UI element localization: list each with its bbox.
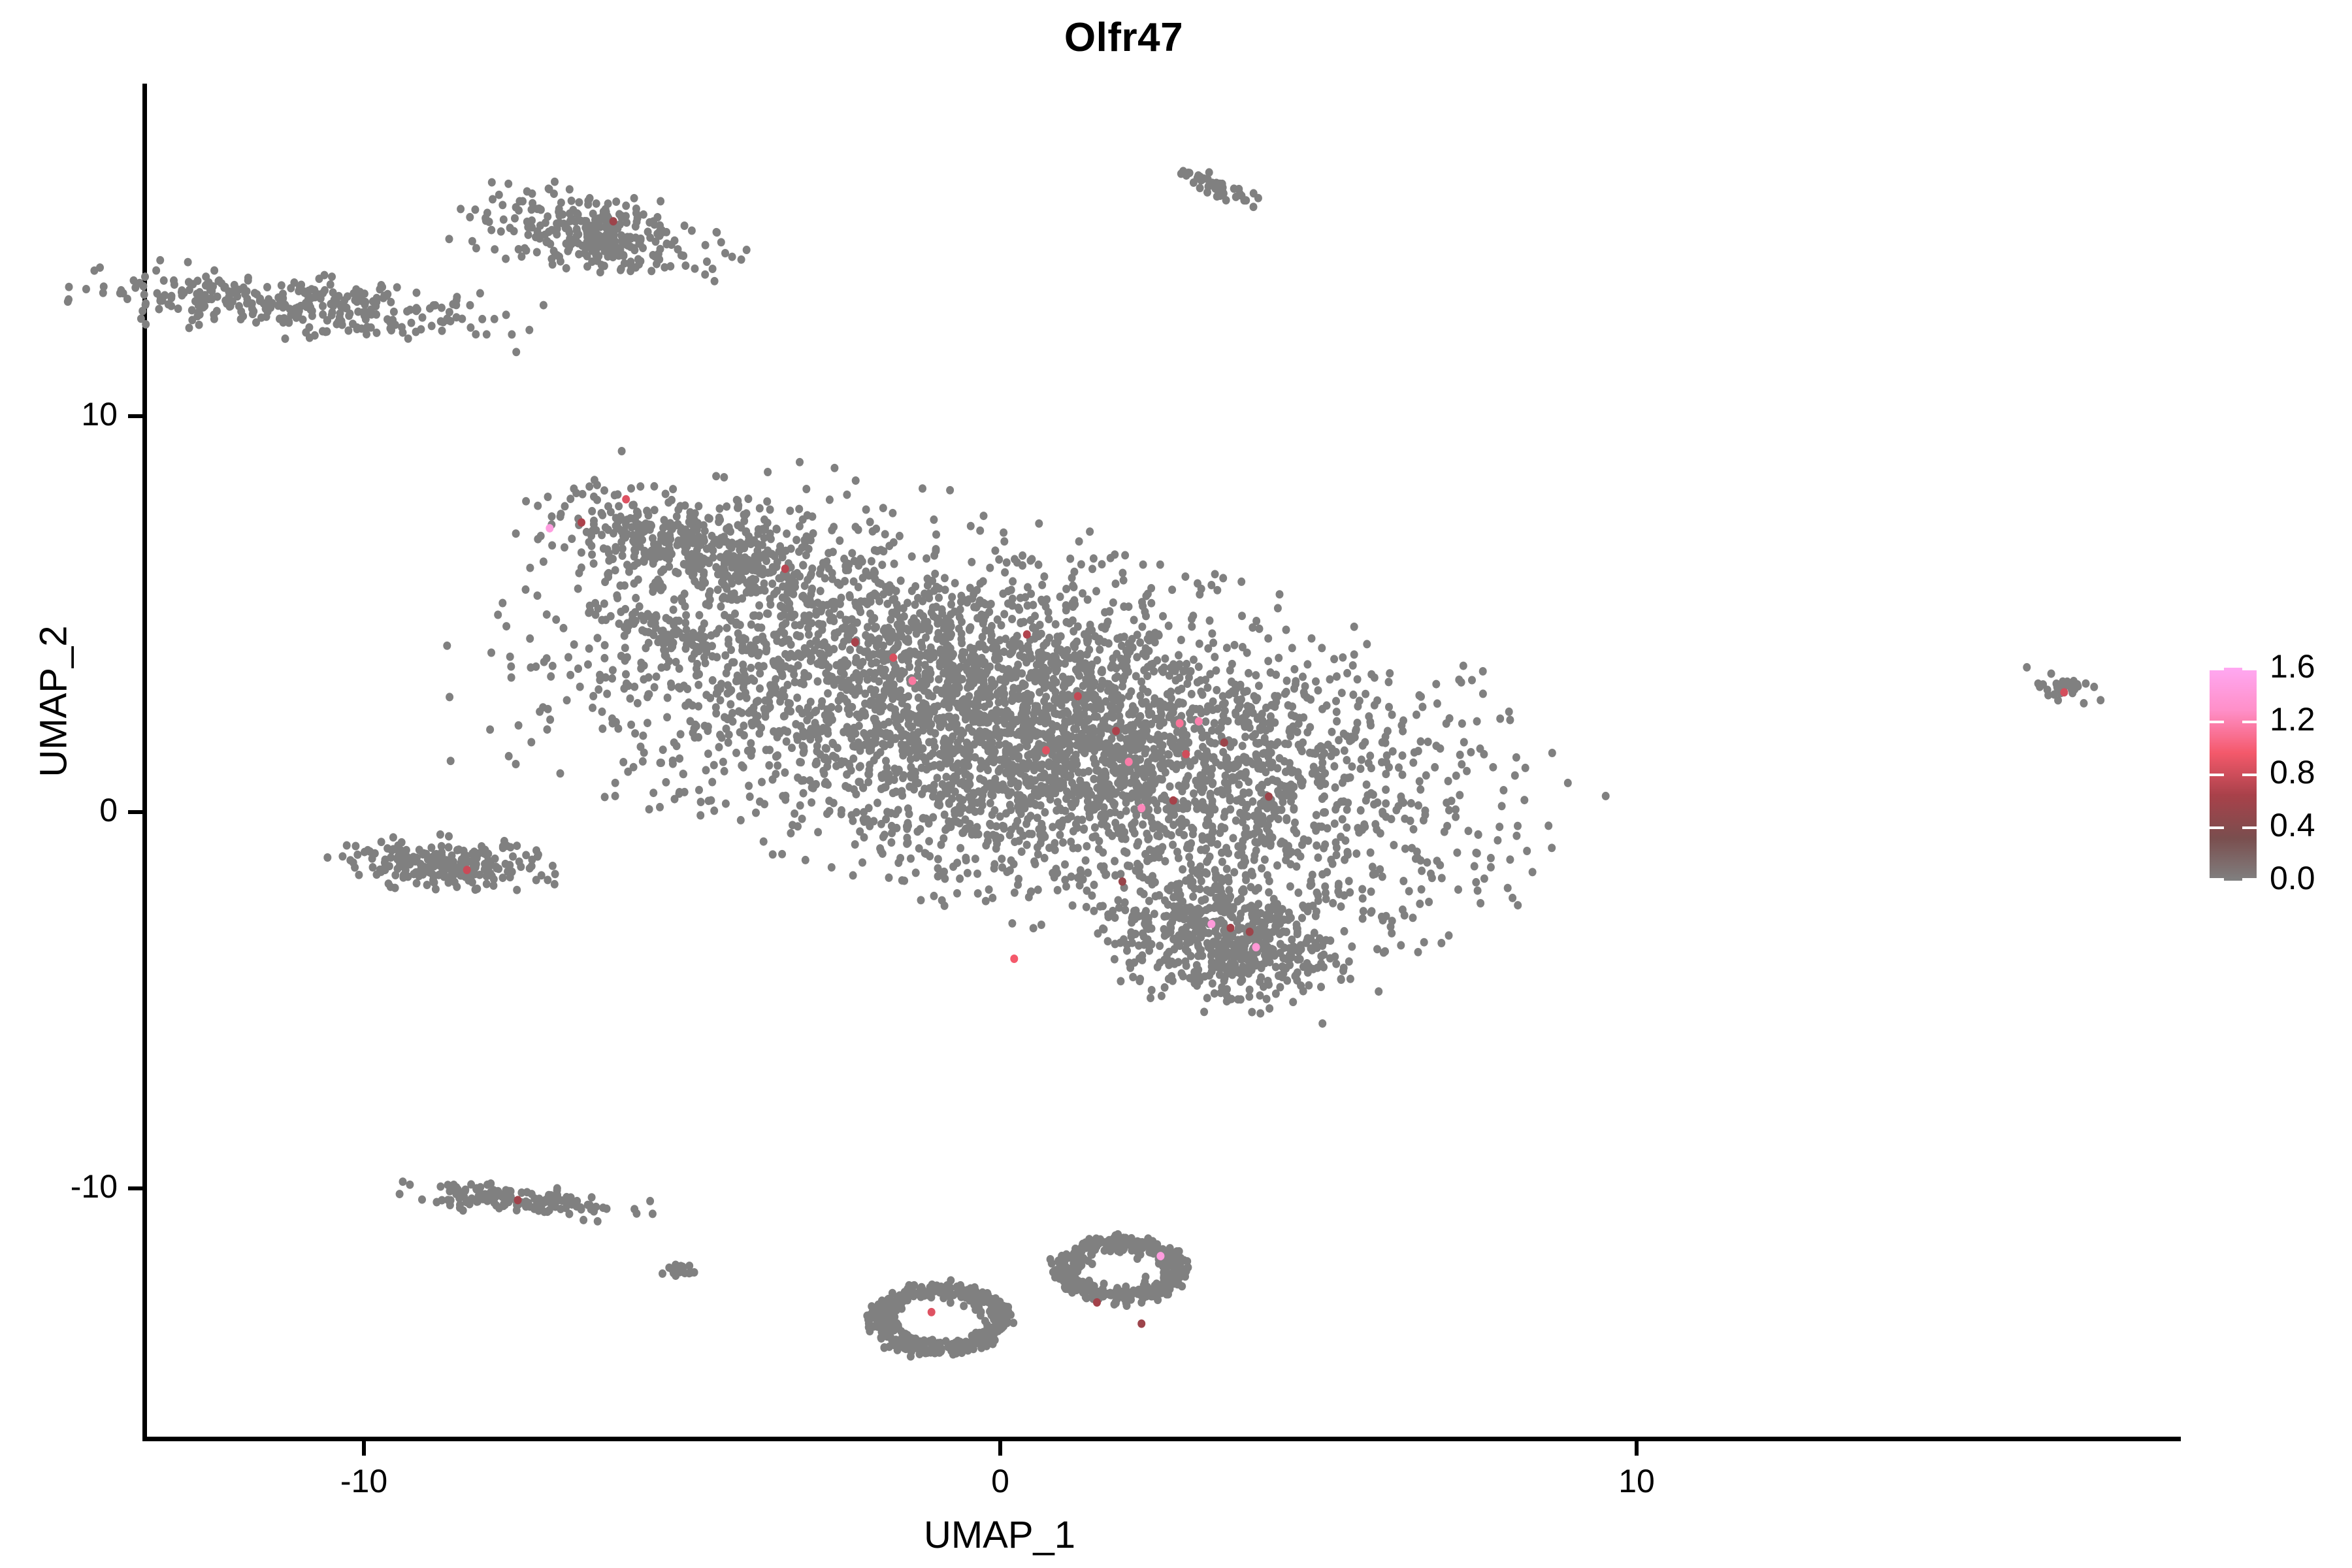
scatter-canvas (0, 0, 2352, 1568)
colorbar-tick-0-8 (2210, 774, 2257, 776)
umap-feature-plot: Olfr47 10 0 -10 -10 0 10 UMAP_2 UMAP_1 1… (0, 0, 2352, 1568)
colorbar-label-0-0: 0.0 (2270, 862, 2315, 894)
colorbar-tick-0-4 (2210, 826, 2257, 829)
colorbar-label-1-6: 1.6 (2270, 650, 2315, 683)
colorbar-tick-1-6 (2210, 668, 2257, 670)
colorbar-label-1-2: 1.2 (2270, 703, 2315, 736)
colorbar-tick-0-0 (2210, 878, 2257, 881)
colorbar-tick-1-2 (2210, 721, 2257, 723)
colorbar-label-0-4: 0.4 (2270, 809, 2315, 841)
colorbar-label-0-8: 0.8 (2270, 756, 2315, 789)
